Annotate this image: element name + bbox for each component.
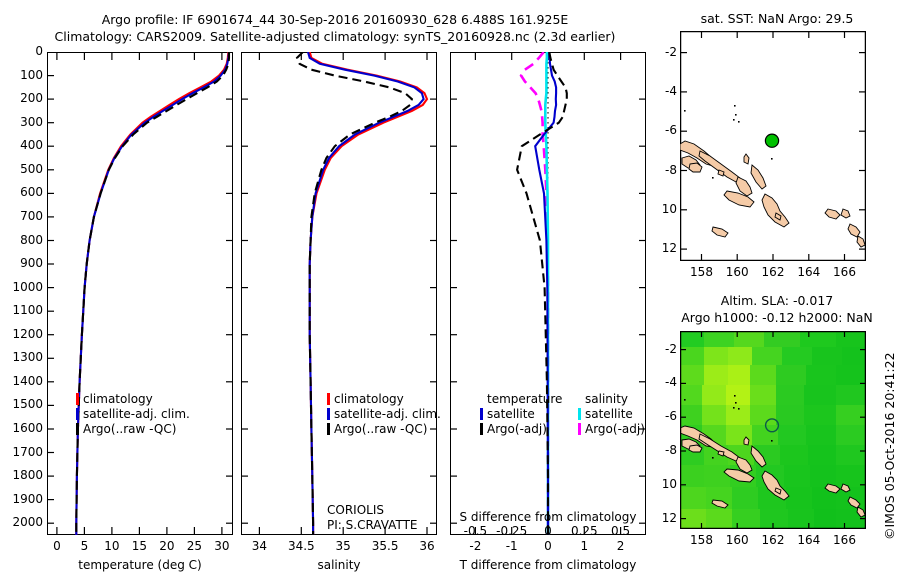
temperature-xaxis-label: temperature (deg C) <box>47 558 233 572</box>
salinity-xaxis-label: salinity <box>241 558 437 572</box>
difference-temperature-axis-label: T difference from climatology <box>450 558 646 572</box>
legend-label: climatology <box>334 392 404 406</box>
pi-label: PI: S.CRAVATTE <box>327 518 418 532</box>
legend-item-argo: Argo(..raw -QC) <box>327 421 441 436</box>
salinity-legend: climatology satellite-adj. clim. Argo(..… <box>327 391 441 436</box>
legend-swatch-argo <box>76 423 79 435</box>
legend-item-temperature-argo: Argo(-adj) <box>480 421 562 436</box>
panel-salinity-plot <box>241 52 437 535</box>
sla-map-title-line-1: Altim. SLA: -0.017 <box>672 293 882 308</box>
difference-legend-temperature: temperature satellite Argo(-adj) <box>480 391 562 436</box>
legend-item-satellite: satellite-adj. clim. <box>327 406 441 421</box>
legend-swatch-temperature-argo <box>480 423 483 435</box>
legend-heading-label: temperature <box>487 392 562 406</box>
legend-heading-salinity: salinity <box>578 391 645 406</box>
sla-map-title-line-2: Argo h1000: -0.12 h2000: NaN <box>662 310 892 325</box>
panel-difference-plot <box>450 52 646 535</box>
difference-salinity-axis-label: S difference from climatology <box>450 510 646 524</box>
series-salinity-argo <box>297 52 412 535</box>
series-temperature-satellite <box>76 52 229 535</box>
figure-title-line-1: Argo profile: IF 6901674_44 30-Sep-2016 … <box>0 12 670 27</box>
series-temperature-climatology <box>76 52 228 535</box>
legend-swatch-climatology <box>76 393 79 405</box>
series-salinity-satellite <box>308 52 424 535</box>
legend-swatch-satellite <box>76 408 79 420</box>
legend-heading-temperature: temperature <box>480 391 562 406</box>
legend-item-argo: Argo(..raw -QC) <box>76 421 190 436</box>
legend-swatch-satellite <box>327 408 330 420</box>
legend-item-temperature-satellite: satellite <box>480 406 562 421</box>
legend-label: Argo(..raw -QC) <box>334 422 427 436</box>
series-salinity-climatology <box>310 52 427 535</box>
legend-item-climatology: climatology <box>76 391 190 406</box>
legend-heading-label: salinity <box>585 392 628 406</box>
panel-temperature-plot <box>47 52 233 535</box>
legend-item-satellite: satellite-adj. clim. <box>76 406 190 421</box>
imos-credit: ©IMOS 05-Oct-2016 20:41:22 <box>882 540 900 555</box>
legend-label: Argo(-adj) <box>585 422 645 436</box>
institution-label: CORIOLIS <box>327 503 384 517</box>
legend-item-salinity-satellite: satellite <box>578 406 645 421</box>
legend-label: climatology <box>83 392 153 406</box>
sst-map <box>680 31 866 261</box>
difference-legend-salinity: salinity satellite Argo(-adj) <box>578 391 645 436</box>
sst-map-title: sat. SST: NaN Argo: 29.5 <box>672 11 882 26</box>
temperature-legend: climatology satellite-adj. clim. Argo(..… <box>76 391 190 436</box>
legend-swatch-salinity-satellite <box>578 408 581 420</box>
legend-label: satellite <box>585 407 633 421</box>
legend-swatch-temperature-satellite <box>480 408 483 420</box>
figure-title-line-2: Climatology: CARS2009. Satellite-adjuste… <box>0 29 670 44</box>
legend-label: Argo(..raw -QC) <box>83 422 176 436</box>
series-temperature-argo <box>76 52 229 535</box>
legend-swatch-salinity-argo <box>578 423 581 435</box>
argo-float-marker <box>765 134 778 147</box>
legend-item-climatology: climatology <box>327 391 441 406</box>
legend-label: Argo(-adj) <box>487 422 547 436</box>
sla-map <box>680 331 866 529</box>
legend-item-salinity-argo: Argo(-adj) <box>578 421 645 436</box>
sla-field <box>680 331 866 529</box>
legend-label: satellite <box>487 407 535 421</box>
legend-label: satellite-adj. clim. <box>334 407 441 421</box>
legend-swatch-climatology <box>327 393 330 405</box>
imos-credit-text: ©IMOS 05-Oct-2016 20:41:22 <box>882 352 897 540</box>
legend-label: satellite-adj. clim. <box>83 407 190 421</box>
legend-swatch-argo <box>327 423 330 435</box>
